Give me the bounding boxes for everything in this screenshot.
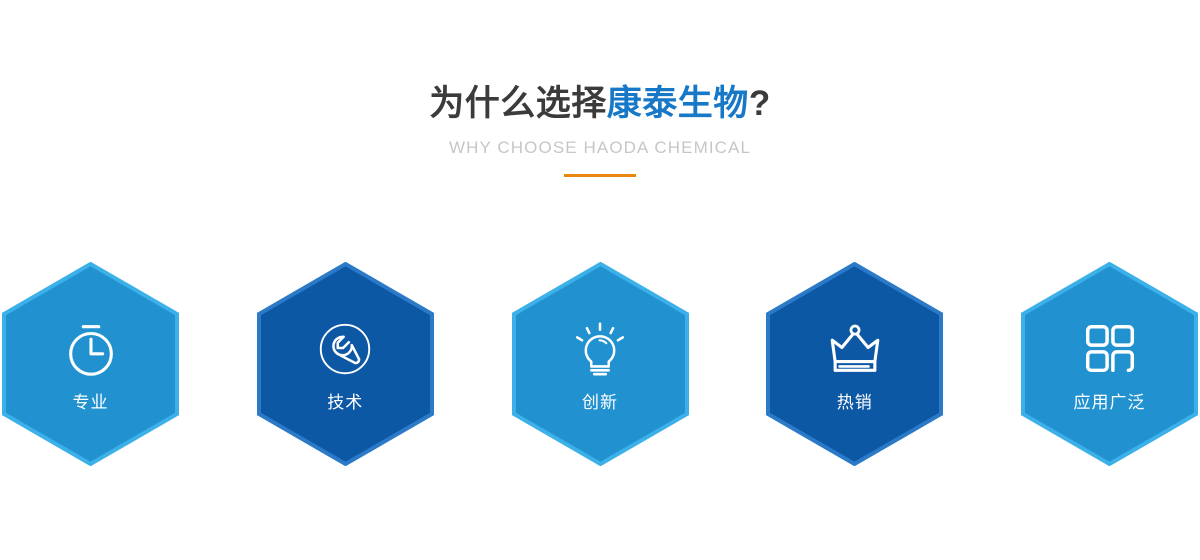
hexagon-shape — [257, 262, 434, 466]
hexagon-shape — [1021, 262, 1198, 466]
page-title-suffix: ? — [749, 84, 771, 123]
divider-wrap — [0, 174, 1200, 177]
feature-hexagon-bestseller[interactable]: 热销 — [766, 262, 943, 466]
hexagon-polygon — [1023, 264, 1196, 464]
hexagon-shape — [766, 262, 943, 466]
feature-hexagon-technology[interactable]: 技术 — [257, 262, 434, 466]
section-header: 为什么选择康泰生物? WHY CHOOSE HAODA CHEMICAL — [0, 0, 1200, 177]
hexagon-polygon — [768, 264, 941, 464]
feature-hexagon-professional[interactable]: 专业 — [2, 262, 179, 466]
page-title-accent: 康泰生物 — [607, 84, 749, 123]
page-subtitle: WHY CHOOSE HAODA CHEMICAL — [0, 138, 1200, 158]
hexagon-polygon — [4, 264, 177, 464]
hexagon-polygon — [259, 264, 432, 464]
feature-hexagon-wide-application[interactable]: 应用广泛 — [1021, 262, 1198, 466]
hexagon-polygon — [514, 264, 687, 464]
feature-hexagon-row: 专业 技术 — [0, 262, 1200, 468]
feature-hexagon-innovation[interactable]: 创新 — [512, 262, 689, 466]
hexagon-shape — [2, 262, 179, 466]
hexagon-shape — [512, 262, 689, 466]
title-divider — [564, 174, 636, 177]
page-title: 为什么选择康泰生物? — [0, 82, 1200, 126]
page-title-prefix: 为什么选择 — [429, 84, 607, 123]
